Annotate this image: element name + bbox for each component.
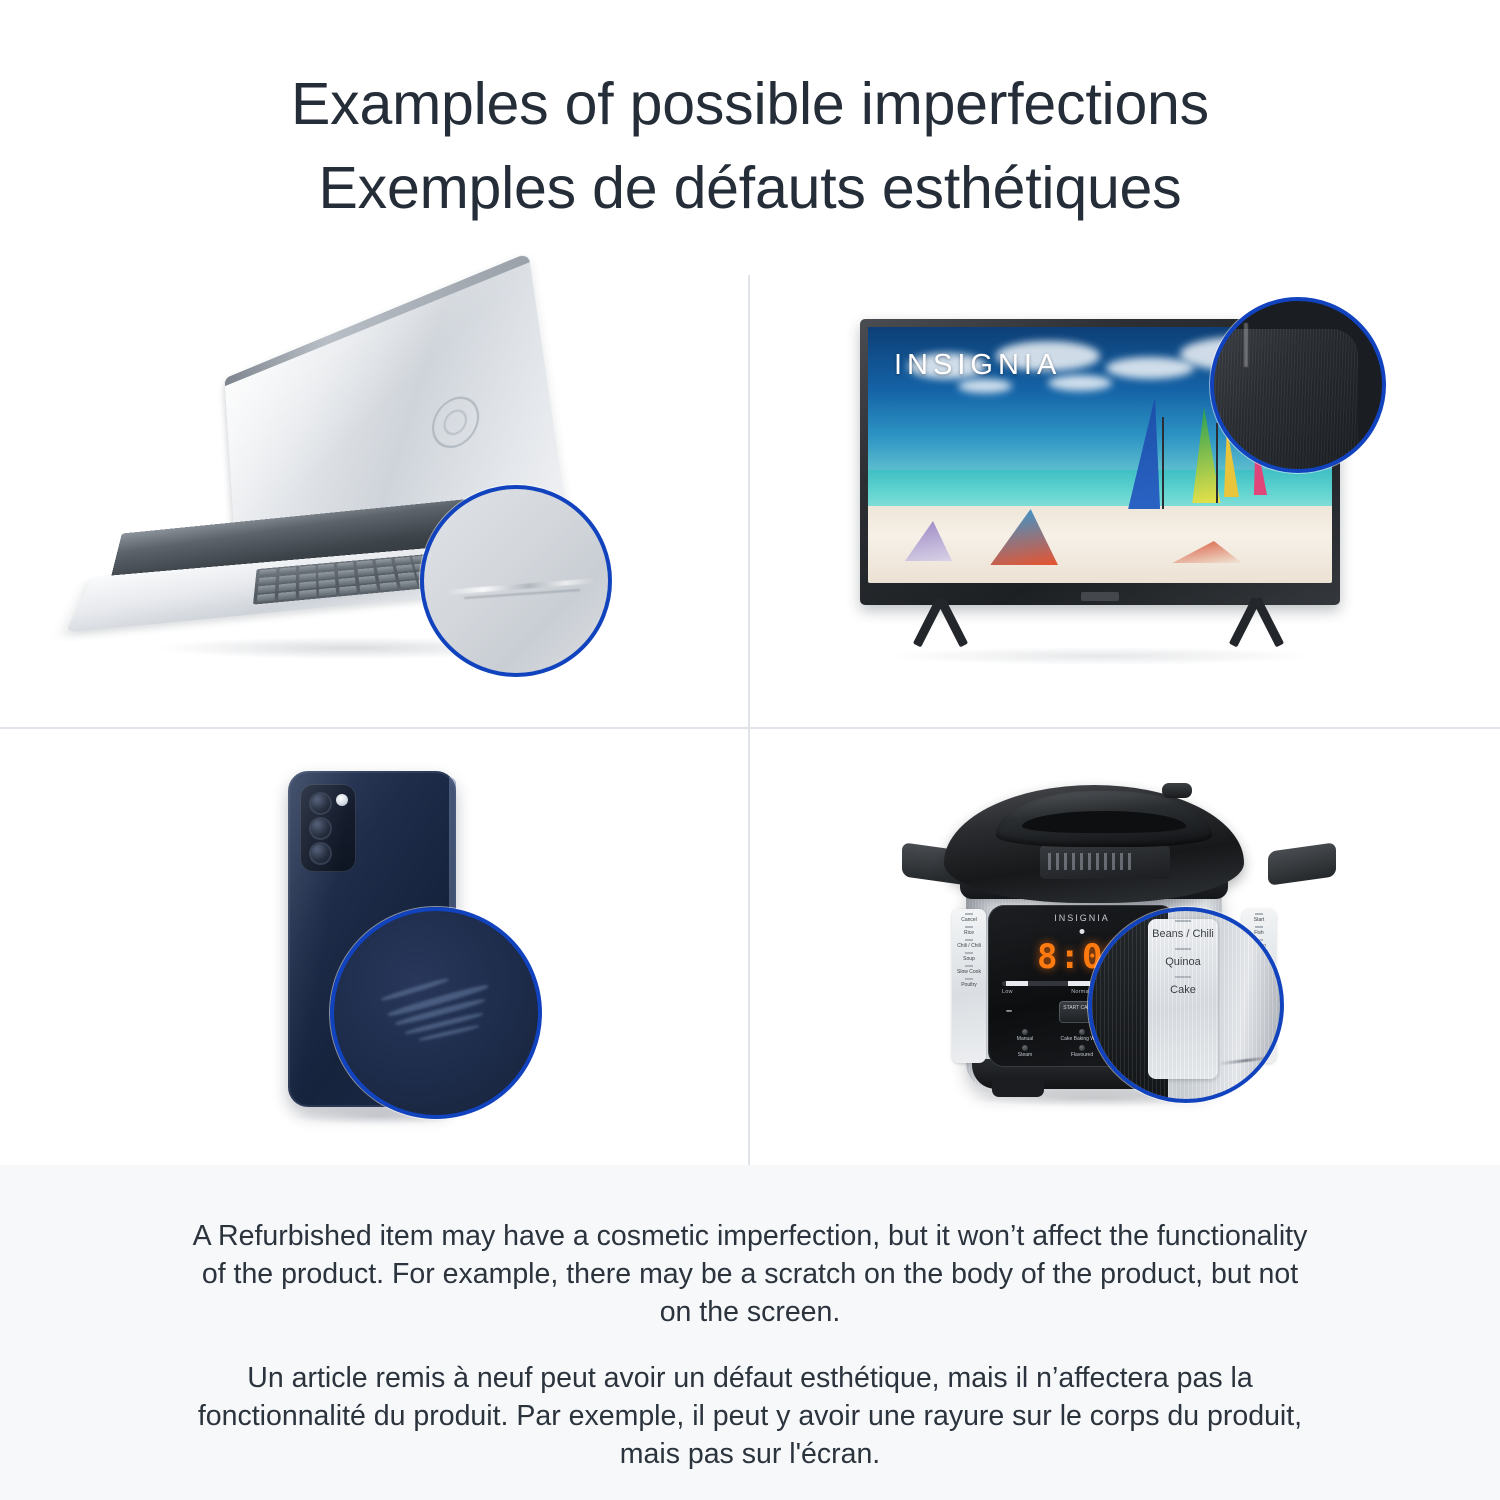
magnifier-circle-smartphone — [330, 907, 542, 1119]
cooker-side-handle-right — [1268, 842, 1336, 886]
camera-lens-icon — [309, 842, 332, 865]
television-screen-brand: INSIGNIA — [894, 349, 1061, 382]
television-leg-right — [1218, 599, 1296, 651]
cooker-lid-vent — [1040, 845, 1170, 879]
camera-flash-icon — [336, 794, 348, 806]
caption-block: A Refurbished item may have a cosmetic i… — [0, 1165, 1500, 1500]
magnified-button-strip: Beans / ChiliQuinoaCake — [1148, 919, 1218, 1079]
product-example-grid: INSIGNIA — [0, 255, 1500, 1165]
cooker-button[interactable]: Cancel — [952, 913, 986, 926]
television-illustration: INSIGNIA — [860, 297, 1360, 677]
laptop-logo-icon — [426, 387, 486, 458]
smartphone-illustration — [288, 771, 478, 1161]
camera-lens-icon — [309, 792, 332, 815]
quadrant-laptop — [0, 255, 748, 727]
cooker-button[interactable]: Cake — [1148, 975, 1218, 1003]
pressure-cooker-illustration: CancelRiceChili / ChiliSoupSlow CookPoul… — [920, 759, 1310, 1159]
imperfections-infographic: Examples of possible imperfections Exemp… — [0, 0, 1500, 1500]
cooker-button[interactable]: Quinoa — [1148, 947, 1218, 975]
cooker-button[interactable]: Steam — [998, 1045, 1052, 1058]
caption-english: A Refurbished item may have a cosmetic i… — [190, 1217, 1310, 1331]
cooker-foot — [992, 1081, 1044, 1097]
camera-module — [300, 784, 356, 872]
caption-french: Un article remis à neuf peut avoir un dé… — [190, 1359, 1310, 1473]
cooker-mode-label: Low — [1002, 989, 1013, 995]
cooker-mode-label: Normal — [1071, 989, 1090, 995]
scratch-mark — [1244, 323, 1248, 367]
laptop-illustration — [120, 345, 640, 665]
cooker-button[interactable]: Soup — [952, 952, 986, 965]
camera-lens-icon — [309, 817, 332, 840]
cooker-lid — [944, 785, 1244, 903]
cooker-button[interactable]: Beans / Chili — [1148, 919, 1218, 947]
sailboat-mast — [1162, 417, 1164, 509]
scratch-mark — [1218, 1056, 1274, 1066]
cooker-lid-handle — [996, 791, 1212, 847]
cooker-decrease-button[interactable]: – — [1006, 1005, 1012, 1017]
cooker-button[interactable]: Poultry — [952, 978, 986, 991]
quadrant-smartphone — [0, 729, 748, 1201]
laptop-lid-edge — [225, 253, 530, 387]
magnifier-circle-laptop — [420, 485, 612, 677]
magnifier-circle-television — [1210, 297, 1386, 473]
magnified-panel-shadow — [1088, 911, 1168, 1103]
magnifier-circle-pressure-cooker: Beans / ChiliQuinoaCake — [1088, 907, 1284, 1103]
quadrant-television: INSIGNIA — [750, 255, 1498, 727]
cooker-button[interactable]: Chili / Chili — [952, 939, 986, 952]
cooker-indicator-light — [1080, 929, 1085, 934]
cooker-left-button-strip[interactable]: CancelRiceChili / ChiliSoupSlow CookPoul… — [952, 909, 986, 1063]
cooker-pressure-valve — [1162, 783, 1192, 798]
page-title-french: Exemples de défauts esthétiques — [0, 146, 1500, 230]
quadrant-pressure-cooker: CancelRiceChili / ChiliSoupSlow CookPoul… — [750, 729, 1498, 1201]
magnified-bezel-corner — [1210, 329, 1358, 469]
cooker-button[interactable]: Manual — [998, 1029, 1052, 1042]
cooker-button[interactable]: Slow Cook — [952, 965, 986, 978]
cooker-button[interactable]: Rice — [952, 926, 986, 939]
television-leg-left — [902, 599, 980, 651]
page-title-english: Examples of possible imperfections — [0, 62, 1500, 146]
page-title: Examples of possible imperfections Exemp… — [0, 62, 1500, 230]
television-bezel-nub — [1081, 592, 1119, 601]
